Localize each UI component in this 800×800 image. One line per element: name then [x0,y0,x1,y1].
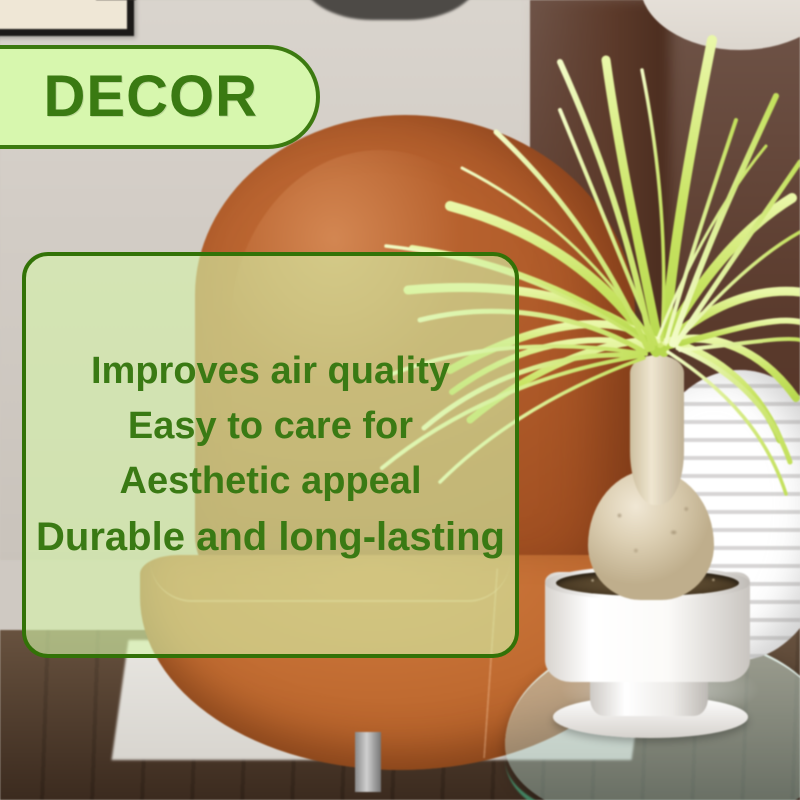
benefits-panel: Improves air quality Easy to care for Ae… [22,252,519,658]
promo-card: DECOR Improves air quality Easy to care … [0,0,800,800]
benefit-item: Durable and long-lasting [36,516,505,559]
benefit-item: Improves air quality [91,351,450,392]
benefit-item: Aesthetic appeal [120,461,422,502]
chair-pedestal-stem [355,732,381,792]
benefit-item: Easy to care for [128,406,413,447]
decor-badge-label: DECOR [44,68,258,126]
wall-picture-frame [0,0,134,36]
plant-trunk [630,355,684,505]
decor-badge: DECOR [0,45,320,149]
